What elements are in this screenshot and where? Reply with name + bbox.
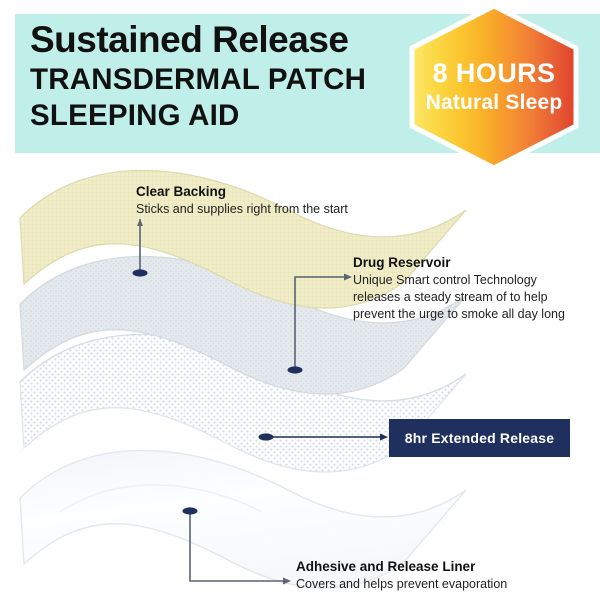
title-line-sub2: SLEEPING AID — [30, 98, 450, 134]
patch-layer-stack — [0, 160, 600, 600]
hexagon-icon — [408, 4, 580, 170]
callout-clear-backing-body: Sticks and supplies right from the start — [136, 201, 348, 218]
callout-adhesive-title: Adhesive and Release Liner — [296, 558, 507, 576]
callout-adhesive-body: Covers and helps prevent evaporation — [296, 576, 507, 593]
callout-clear-backing: Clear Backing Sticks and supplies right … — [136, 183, 348, 218]
callout-clear-backing-title: Clear Backing — [136, 183, 348, 201]
callout-drug-reservoir-body-line-3: prevent the urge to smoke all day long — [353, 306, 565, 323]
title-line-main: Sustained Release — [30, 18, 450, 62]
extended-release-label: 8hr Extended Release — [405, 430, 555, 446]
callout-drug-reservoir-body-line-1: Unique Smart control Technology — [353, 272, 565, 289]
hours-badge: 8 HOURS Natural Sleep — [408, 4, 580, 170]
title-line-sub1: TRANSDERMAL PATCH — [30, 62, 450, 98]
page-title: Sustained Release TRANSDERMAL PATCH SLEE… — [30, 18, 450, 134]
callout-adhesive-release-liner: Adhesive and Release Liner Covers and he… — [296, 558, 507, 593]
extended-release-badge: 8hr Extended Release — [389, 419, 570, 457]
callout-drug-reservoir-title: Drug Reservoir — [353, 254, 565, 272]
callout-drug-reservoir-body-line-2: releases a steady stream of to help — [353, 289, 565, 306]
callout-drug-reservoir: Drug Reservoir Unique Smart control Tech… — [353, 254, 565, 323]
